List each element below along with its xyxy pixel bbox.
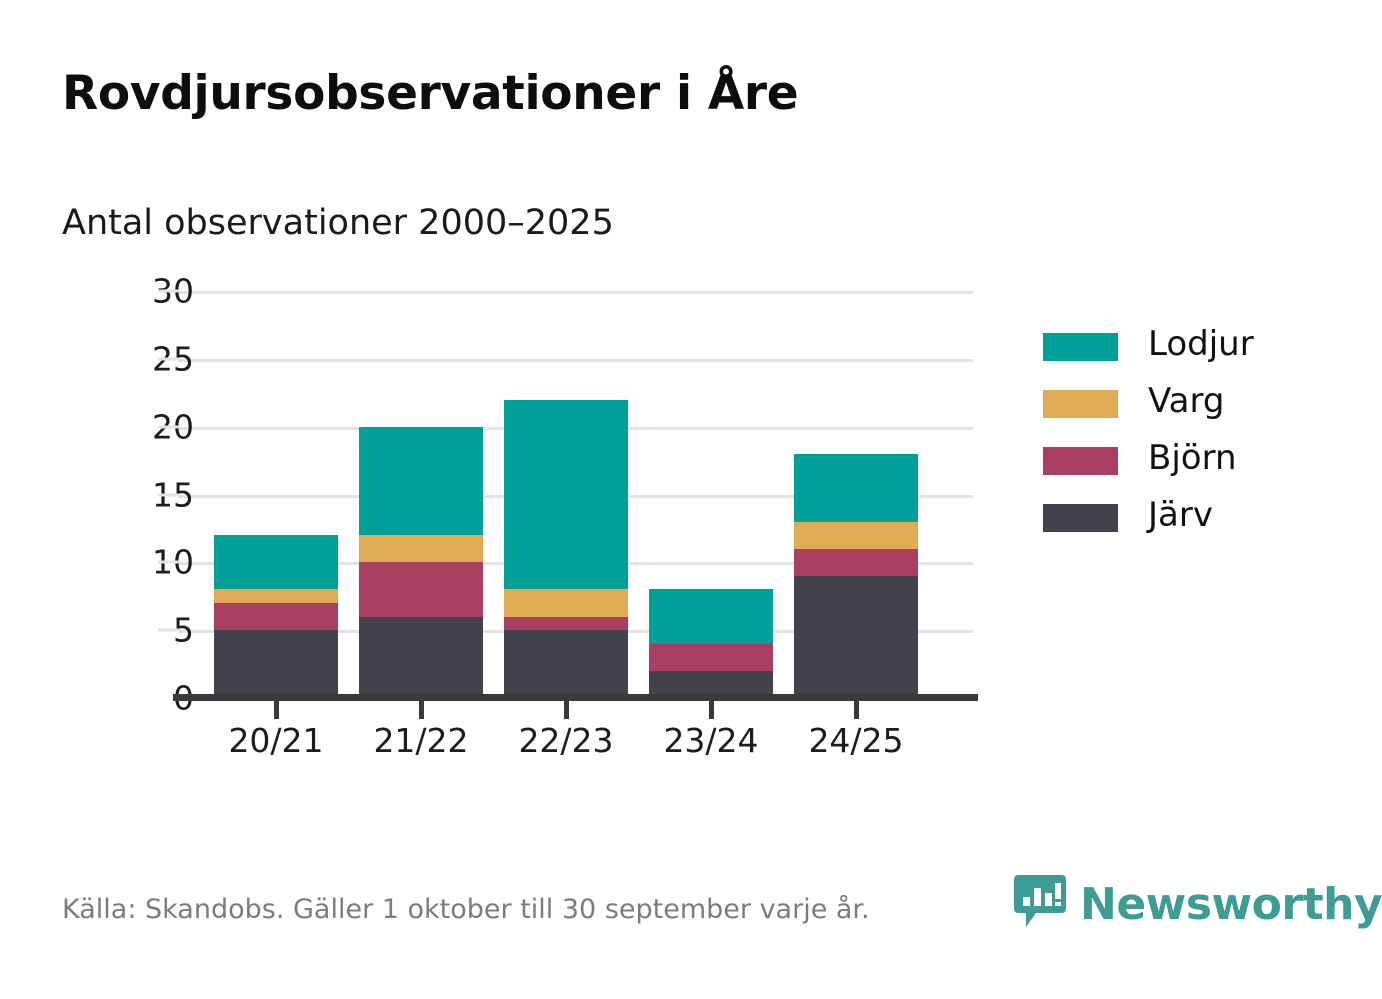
legend-swatch-icon	[1043, 390, 1118, 418]
bar-segment-lodjur[interactable]	[649, 589, 773, 643]
bar-stack[interactable]	[794, 291, 918, 698]
bar-segment-björn[interactable]	[504, 617, 628, 631]
bar-segment-björn[interactable]	[359, 562, 483, 616]
bar-segment-varg[interactable]	[794, 522, 918, 549]
source-note: Källa: Skandobs. Gäller 1 oktober till 3…	[62, 894, 870, 925]
y-axis-tick-mark	[158, 493, 180, 496]
bar-segment-björn[interactable]	[649, 644, 773, 671]
bar-stack[interactable]	[359, 291, 483, 698]
bar-segment-lodjur[interactable]	[214, 535, 338, 589]
newsworthy-wordmark: Newsworthy	[1080, 883, 1382, 927]
x-axis-tick-mark	[854, 701, 859, 719]
x-axis-tick-mark	[274, 701, 279, 719]
newsworthy-logo[interactable]: Newsworthy	[1014, 875, 1382, 935]
bar-segment-björn[interactable]	[214, 603, 338, 630]
bar-segment-järv[interactable]	[359, 617, 483, 698]
y-axis-tick-mark	[158, 290, 180, 293]
bar-segment-varg[interactable]	[504, 589, 628, 616]
bar-stack[interactable]	[649, 291, 773, 698]
bar-segment-varg[interactable]	[359, 535, 483, 562]
bar-segment-varg[interactable]	[214, 589, 338, 603]
bars-layer	[178, 291, 973, 698]
bar-segment-järv[interactable]	[794, 576, 918, 698]
y-axis-tick-mark	[158, 425, 180, 428]
legend-swatch-icon	[1043, 333, 1118, 361]
chart-container: Rovdjursobservationer i Åre Antal observ…	[0, 0, 1382, 999]
bar-stack[interactable]	[504, 291, 628, 698]
bar-segment-lodjur[interactable]	[359, 427, 483, 536]
y-axis-tick-mark	[158, 629, 180, 632]
newsworthy-bubble-icon	[1014, 875, 1066, 935]
bar-segment-lodjur[interactable]	[794, 454, 918, 522]
bar-segment-björn[interactable]	[794, 549, 918, 576]
legend-swatch-icon	[1043, 504, 1118, 532]
y-axis-tick-mark	[158, 561, 180, 564]
bar-segment-järv[interactable]	[214, 630, 338, 698]
y-axis-tick-mark	[158, 357, 180, 360]
page-title: Rovdjursobservationer i Åre	[62, 66, 798, 121]
chart-subtitle: Antal observationer 2000–2025	[62, 203, 614, 243]
legend-swatch-icon	[1043, 447, 1118, 475]
legend-label: Varg	[1148, 381, 1224, 421]
x-axis-tick-mark	[419, 701, 424, 719]
x-axis-tick-label: 24/25	[756, 721, 956, 760]
bar-segment-järv[interactable]	[504, 630, 628, 698]
legend-label: Järv	[1148, 495, 1213, 535]
x-axis-tick-mark	[564, 701, 569, 719]
bar-stack[interactable]	[214, 291, 338, 698]
x-axis-line	[173, 694, 978, 701]
x-axis-tick-mark	[709, 701, 714, 719]
legend-label: Lodjur	[1148, 324, 1254, 364]
legend-label: Björn	[1148, 438, 1237, 478]
bar-segment-lodjur[interactable]	[504, 400, 628, 590]
